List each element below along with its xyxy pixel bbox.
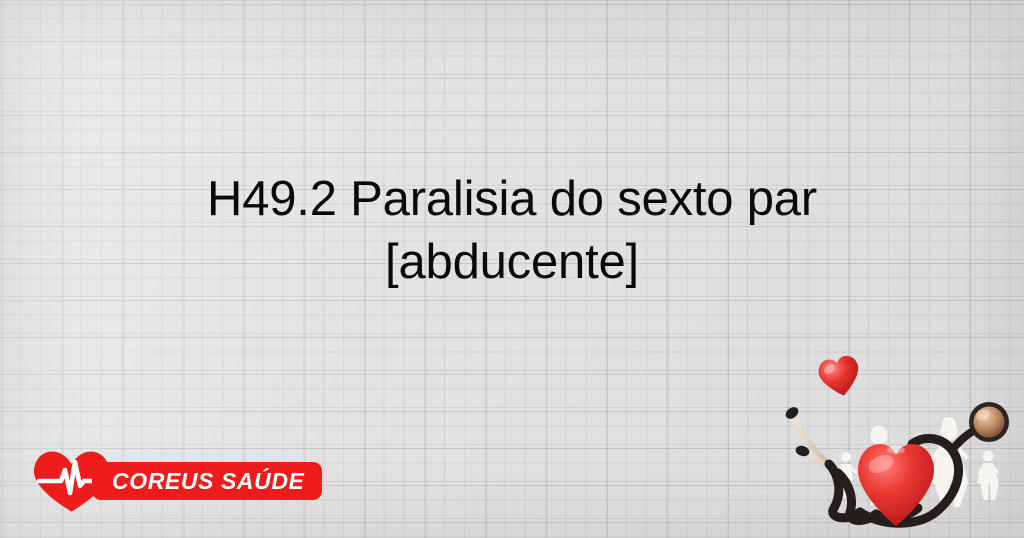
stethoscope-chestpiece-icon: [969, 402, 1009, 442]
page-title-text: H49.2 Paralisia do sexto par [abducente]: [60, 168, 964, 294]
brand-logo: COREUS SAÚDE: [30, 448, 322, 514]
small-heart-icon: [816, 354, 863, 400]
banner: H49.2 Paralisia do sexto par [abducente]…: [0, 0, 1024, 538]
brand-name-badge: COREUS SAÚDE: [92, 462, 322, 500]
medical-artwork: [784, 354, 1020, 536]
page-title: H49.2 Paralisia do sexto par [abducente]: [60, 168, 964, 294]
brand-name-text: COREUS SAÚDE: [112, 470, 305, 493]
